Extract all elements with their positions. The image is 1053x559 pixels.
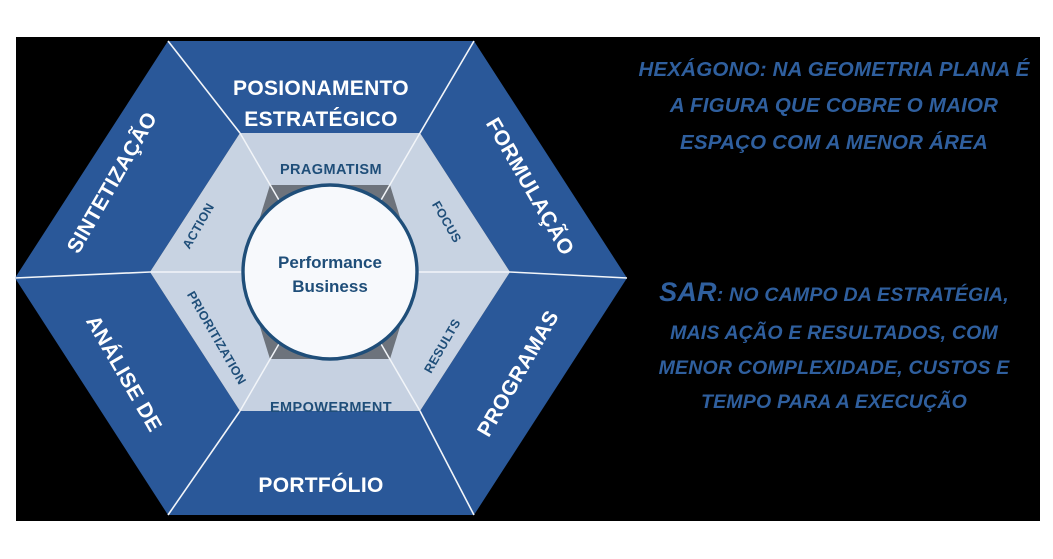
note-sar-line4: TEMPO PARA A EXECUÇÃO [636, 385, 1032, 420]
outer-label-posionamento: POSIONAMENTO [233, 77, 409, 100]
center-label-line1: Performance [278, 253, 382, 272]
note-sar-keyword: SAR [659, 277, 717, 307]
inner-label-pragmatism: PRAGMATISM [280, 162, 382, 178]
note-sar: SAR: NO CAMPO DA ESTRATÉGIA, MAIS AÇÃO E… [636, 268, 1032, 420]
note-sar-line1: SAR: NO CAMPO DA ESTRATÉGIA, [636, 268, 1032, 316]
outer-label-portfolio: PORTFÓLIO [258, 473, 383, 497]
outer-label-estrategico: ESTRATÉGICO [244, 108, 397, 131]
diagram-stage: Performance Business POSIONAMENTO ESTRAT… [0, 0, 1053, 559]
note-hexagono-line2: A FIGURA QUE COBRE O MAIOR [636, 88, 1032, 124]
note-sar-line2: MAIS AÇÃO E RESULTADOS, COM [636, 316, 1032, 351]
center-label-line2: Business [292, 277, 368, 296]
note-sar-line1-rest: : NO CAMPO DA ESTRATÉGIA, [717, 284, 1009, 306]
note-hexagono: HEXÁGONO: NA GEOMETRIA PLANA É A FIGURA … [636, 52, 1032, 161]
center-circle[interactable] [243, 185, 417, 359]
note-hexagono-line3: ESPAÇO COM A MENOR ÁREA [636, 125, 1032, 161]
note-hexagono-line1: HEXÁGONO: NA GEOMETRIA PLANA É [636, 52, 1032, 88]
inner-label-empowerment: EMPOWERMENT [270, 400, 392, 416]
note-sar-line3: MENOR COMPLEXIDADE, CUSTOS E [636, 351, 1032, 386]
